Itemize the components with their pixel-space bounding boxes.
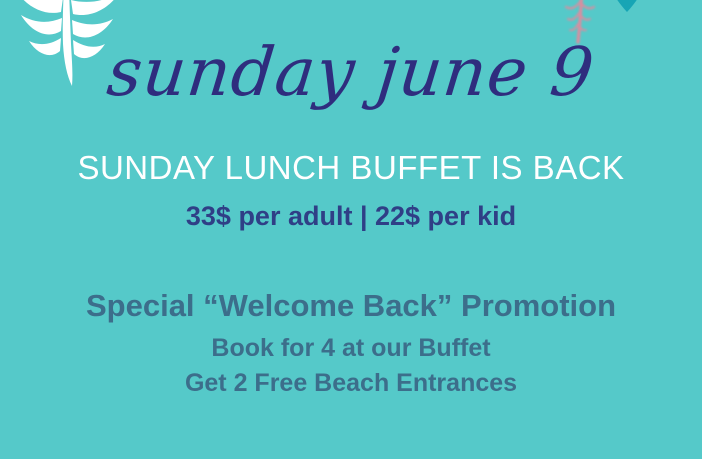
promotion-detail-line-1: Book for 4 at our Buffet xyxy=(0,334,702,363)
promotion-headline: Special “Welcome Back” Promotion xyxy=(0,288,702,324)
poster-subtitle: SUNDAY LUNCH BUFFET IS BACK xyxy=(0,150,702,186)
promotion-detail-line-2: Get 2 Free Beach Entrances xyxy=(0,369,702,398)
event-date-script: sunday june 9 xyxy=(0,38,702,106)
pricing-line: 33$ per adult | 22$ per kid xyxy=(0,201,702,232)
promo-poster: sunday june 9 SUNDAY LUNCH BUFFET IS BAC… xyxy=(0,0,702,459)
poster-content: sunday june 9 SUNDAY LUNCH BUFFET IS BAC… xyxy=(0,0,702,459)
